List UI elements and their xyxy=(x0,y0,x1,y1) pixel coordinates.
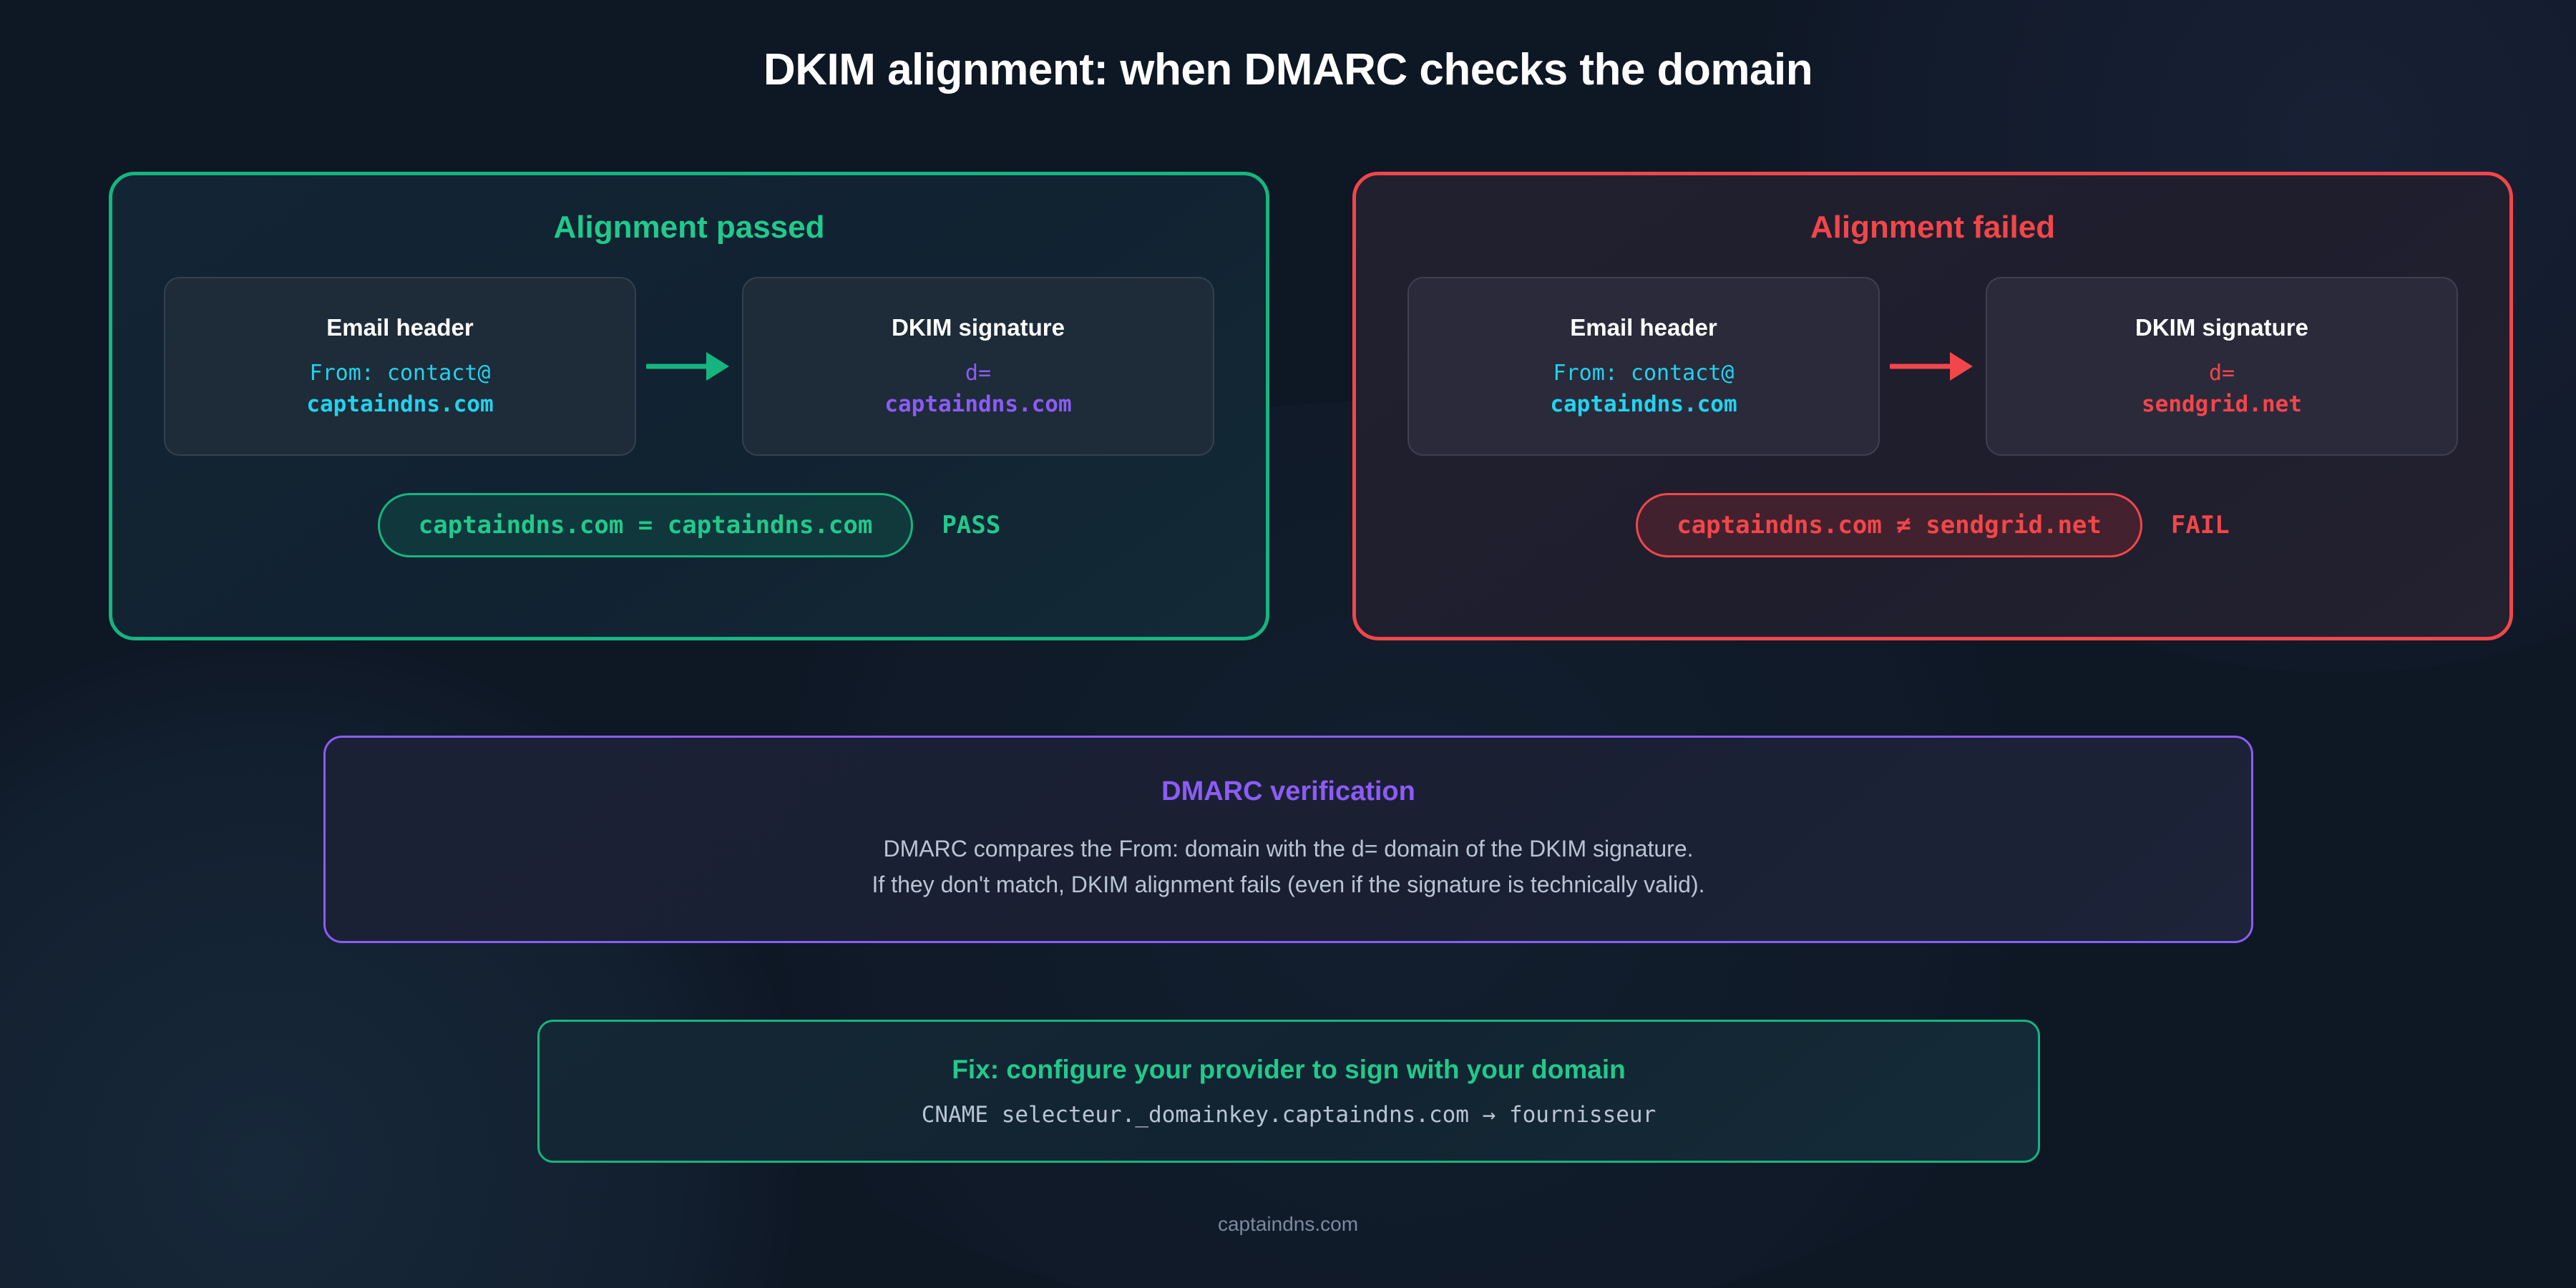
fail-email-header-card: Email header From: contact@ captaindns.c… xyxy=(1407,277,1880,456)
alignment-passed-title: Alignment passed xyxy=(112,210,1266,245)
dmarc-description-line-2: If they don't match, DKIM alignment fail… xyxy=(872,867,1705,903)
fail-status-badge: FAIL xyxy=(2171,511,2230,540)
footer-source: captaindns.com xyxy=(0,1213,2576,1236)
pass-status-badge: PASS xyxy=(942,511,1000,540)
arrow-right-icon xyxy=(1880,352,1986,381)
fail-email-header-card-title: Email header xyxy=(1570,314,1717,341)
fail-card-row: Email header From: contact@ captaindns.c… xyxy=(1356,277,2509,456)
arrow-head xyxy=(1950,352,1973,381)
fail-d-label: d= xyxy=(2209,361,2235,386)
dmarc-description-line-1: DMARC compares the From: domain with the… xyxy=(883,831,1693,867)
fail-dkim-signature-card-title: DKIM signature xyxy=(2135,314,2308,341)
fail-result-row: captaindns.com ≠ sendgrid.net FAIL xyxy=(1356,493,2509,557)
fix-panel-title: Fix: configure your provider to sign wit… xyxy=(952,1055,1626,1085)
fix-dns-record-command: CNAME selecteur._domainkey.captaindns.co… xyxy=(922,1102,1657,1128)
pass-card-row: Email header From: contact@ captaindns.c… xyxy=(112,277,1266,456)
arrow-shaft xyxy=(646,364,711,369)
pass-result-row: captaindns.com = captaindns.com PASS xyxy=(112,493,1266,557)
fail-dkim-signature-card: DKIM signature d= sendgrid.net xyxy=(1986,277,2458,456)
pass-from-domain: captaindns.com xyxy=(306,391,493,419)
alignment-failed-panel: Alignment failed Email header From: cont… xyxy=(1352,172,2513,640)
page-title: DKIM alignment: when DMARC checks the do… xyxy=(0,44,2576,95)
arrow-head xyxy=(706,352,729,381)
fail-from-domain: captaindns.com xyxy=(1550,391,1737,419)
arrow-shaft xyxy=(1890,364,1954,369)
fail-dkim-signature-value: d= sendgrid.net xyxy=(2142,360,2302,418)
pass-email-header-value: From: contact@ captaindns.com xyxy=(306,360,493,418)
diagram-page: DKIM alignment: when DMARC checks the do… xyxy=(0,0,2576,1288)
pass-d-label: d= xyxy=(965,361,991,386)
fail-comparison-pill: captaindns.com ≠ sendgrid.net xyxy=(1636,493,2142,557)
pass-dkim-signature-card-title: DKIM signature xyxy=(892,314,1065,341)
dmarc-verification-title: DMARC verification xyxy=(1161,776,1415,807)
pass-dkim-signature-card: DKIM signature d= captaindns.com xyxy=(742,277,1214,456)
pass-d-domain: captaindns.com xyxy=(884,391,1071,419)
pass-email-header-card: Email header From: contact@ captaindns.c… xyxy=(164,277,636,456)
pass-email-header-card-title: Email header xyxy=(326,314,473,341)
fail-email-header-value: From: contact@ captaindns.com xyxy=(1550,360,1737,418)
arrow-right-icon xyxy=(636,352,742,381)
pass-dkim-signature-value: d= captaindns.com xyxy=(884,360,1071,418)
fix-panel: Fix: configure your provider to sign wit… xyxy=(537,1020,2040,1163)
alignment-passed-panel: Alignment passed Email header From: cont… xyxy=(109,172,1269,640)
fail-d-domain: sendgrid.net xyxy=(2142,391,2302,419)
fail-from-label: From: contact@ xyxy=(1553,361,1735,386)
alignment-failed-title: Alignment failed xyxy=(1356,210,2509,245)
pass-comparison-pill: captaindns.com = captaindns.com xyxy=(378,493,914,557)
dmarc-verification-panel: DMARC verification DMARC compares the Fr… xyxy=(323,736,2253,943)
pass-from-label: From: contact@ xyxy=(310,361,491,386)
